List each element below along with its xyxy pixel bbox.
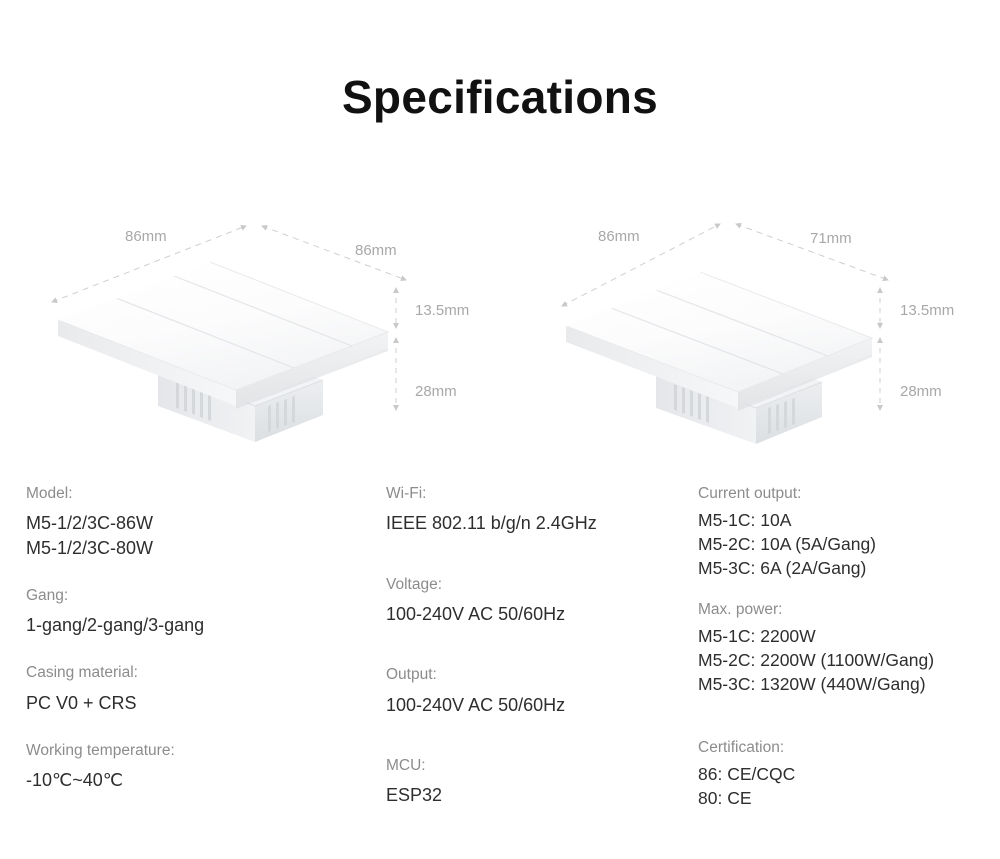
dimension-label-thickness: 13.5mm — [900, 302, 954, 319]
spec-item-voltage: Voltage: 100-240V AC 50/60Hz — [386, 574, 686, 627]
spec-value-casing-material: PC V0 + CRS — [26, 691, 356, 715]
spec-value-output: 100-240V AC 50/60Hz — [386, 693, 686, 717]
page-title: Specifications — [0, 70, 1000, 124]
spec-value-working-temperature: -10℃~40℃ — [26, 768, 356, 792]
dimension-label-width-right: 71mm — [810, 230, 852, 247]
spec-item-max-power: Max. power: M5-1C: 2200W M5-2C: 2200W (1… — [698, 599, 998, 697]
dimension-label-width-right: 86mm — [355, 242, 397, 259]
product-figure-86: 86mm 86mm 13.5mm 28mm — [40, 210, 520, 460]
spec-item-casing-material: Casing material: PC V0 + CRS — [26, 662, 356, 715]
spec-label-working-temperature: Working temperature: — [26, 740, 356, 762]
switch-86-illustration — [40, 210, 520, 460]
spec-value-voltage: 100-240V AC 50/60Hz — [386, 602, 686, 626]
spec-value-certification: 86: CE/CQC 80: CE — [698, 763, 998, 811]
spec-label-output: Output: — [386, 664, 686, 686]
spec-column-3: Current output: M5-1C: 10A M5-2C: 10A (5… — [698, 483, 998, 829]
spec-item-working-temperature: Working temperature: -10℃~40℃ — [26, 740, 356, 793]
spec-label-mcu: MCU: — [386, 755, 686, 777]
spec-item-wifi: Wi-Fi: IEEE 802.11 b/g/n 2.4GHz — [386, 483, 686, 536]
spec-item-mcu: MCU: ESP32 — [386, 755, 686, 808]
spec-label-wifi: Wi-Fi: — [386, 483, 686, 505]
spec-label-max-power: Max. power: — [698, 599, 998, 621]
spec-item-output: Output: 100-240V AC 50/60Hz — [386, 664, 686, 717]
spec-label-current-output: Current output: — [698, 483, 998, 505]
dimension-label-width-left: 86mm — [598, 228, 640, 245]
spec-label-casing-material: Casing material: — [26, 662, 356, 684]
product-figure-80: 86mm 71mm 13.5mm 28mm — [560, 210, 1000, 460]
spec-label-certification: Certification: — [698, 737, 998, 759]
spec-label-voltage: Voltage: — [386, 574, 686, 596]
specifications-grid: Model: M5-1/2/3C-86W M5-1/2/3C-80W Gang:… — [0, 483, 1000, 853]
switch-80-illustration — [560, 210, 1000, 460]
dimension-label-thickness: 13.5mm — [415, 302, 469, 319]
dimension-label-depth: 28mm — [415, 383, 457, 400]
spec-label-gang: Gang: — [26, 585, 356, 607]
spec-value-max-power: M5-1C: 2200W M5-2C: 2200W (1100W/Gang) M… — [698, 625, 998, 696]
dimension-label-depth: 28mm — [900, 383, 942, 400]
spec-value-current-output: M5-1C: 10A M5-2C: 10A (5A/Gang) M5-3C: 6… — [698, 509, 998, 580]
spec-value-model: M5-1/2/3C-86W M5-1/2/3C-80W — [26, 511, 356, 559]
spec-label-model: Model: — [26, 483, 356, 505]
spec-item-certification: Certification: 86: CE/CQC 80: CE — [698, 737, 998, 811]
spec-value-wifi: IEEE 802.11 b/g/n 2.4GHz — [386, 511, 686, 535]
spec-column-2: Wi-Fi: IEEE 802.11 b/g/n 2.4GHz Voltage:… — [386, 483, 686, 845]
spec-value-mcu: ESP32 — [386, 783, 686, 807]
spec-value-gang: 1-gang/2-gang/3-gang — [26, 613, 356, 637]
spec-column-1: Model: M5-1/2/3C-86W M5-1/2/3C-80W Gang:… — [26, 483, 356, 817]
spec-item-current-output: Current output: M5-1C: 10A M5-2C: 10A (5… — [698, 483, 998, 581]
spec-item-gang: Gang: 1-gang/2-gang/3-gang — [26, 585, 356, 638]
spec-item-model: Model: M5-1/2/3C-86W M5-1/2/3C-80W — [26, 483, 356, 560]
dimension-label-width-left: 86mm — [125, 228, 167, 245]
